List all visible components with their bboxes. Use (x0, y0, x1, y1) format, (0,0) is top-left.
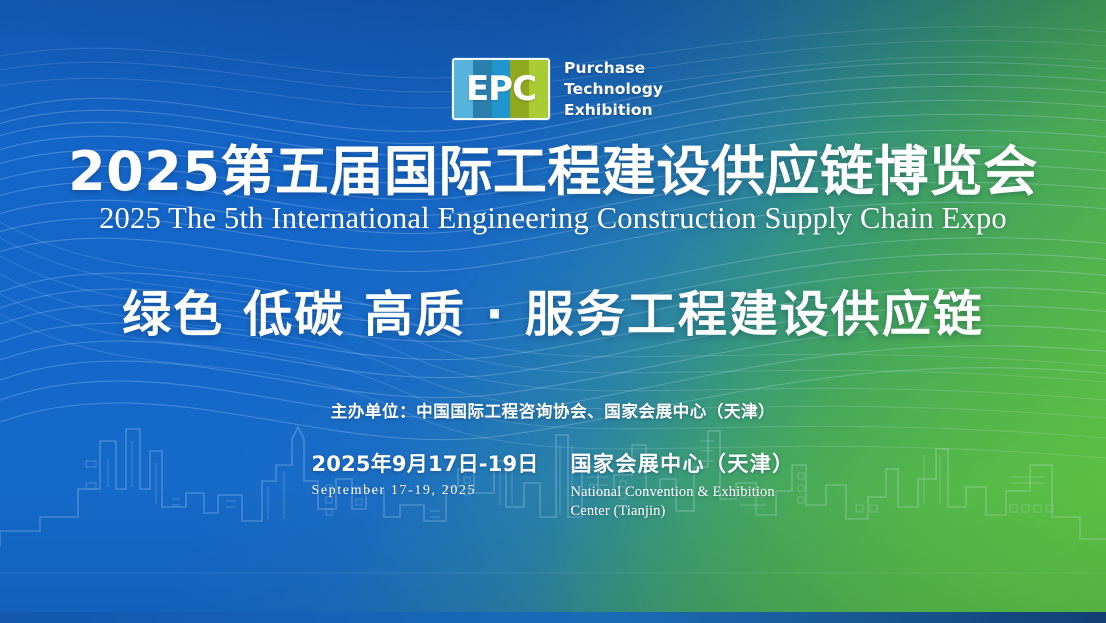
logo-letters: EPC (454, 60, 548, 118)
logo-tagline-line-1: Purchase (564, 58, 663, 79)
page-title-english: 2025 The 5th International Engineering C… (0, 200, 1106, 237)
event-venue-block: 国家会展中心（天津） National Convention & Exhibit… (571, 448, 795, 521)
event-date-chinese: 2025年9月17日-19日 (311, 448, 538, 478)
logo-tagline-line-2: Technology (564, 79, 663, 100)
event-info-row: 2025年9月17日-19日 September 17-19, 2025 国家会… (0, 448, 1106, 521)
logo-tagline: Purchase Technology Exhibition (564, 58, 663, 120)
event-venue-english-line-2: Center (Tianjin) (571, 502, 795, 521)
event-venue-english: National Convention & Exhibition Center … (571, 483, 795, 521)
expo-poster: EPC Purchase Technology Exhibition 2025第… (0, 0, 1106, 623)
slogan-chinese: 绿色 低碳 高质 · 服务工程建设供应链 (0, 288, 1106, 342)
epc-logo: EPC Purchase Technology Exhibition (452, 58, 663, 120)
event-venue-english-line-1: National Convention & Exhibition (571, 483, 795, 502)
epc-logo-mark: EPC (452, 58, 550, 120)
bottom-accent-bar (0, 612, 1106, 623)
page-title-chinese: 2025第五届国际工程建设供应链博览会 (0, 143, 1106, 200)
event-date-block: 2025年9月17日-19日 September 17-19, 2025 (311, 448, 538, 499)
organizer-line: 主办单位：中国国际工程咨询协会、国家会展中心（天津） (0, 398, 1106, 422)
logo-tagline-line-3: Exhibition (564, 100, 663, 121)
event-venue-chinese: 国家会展中心（天津） (571, 448, 795, 478)
event-date-english: September 17-19, 2025 (311, 483, 538, 499)
